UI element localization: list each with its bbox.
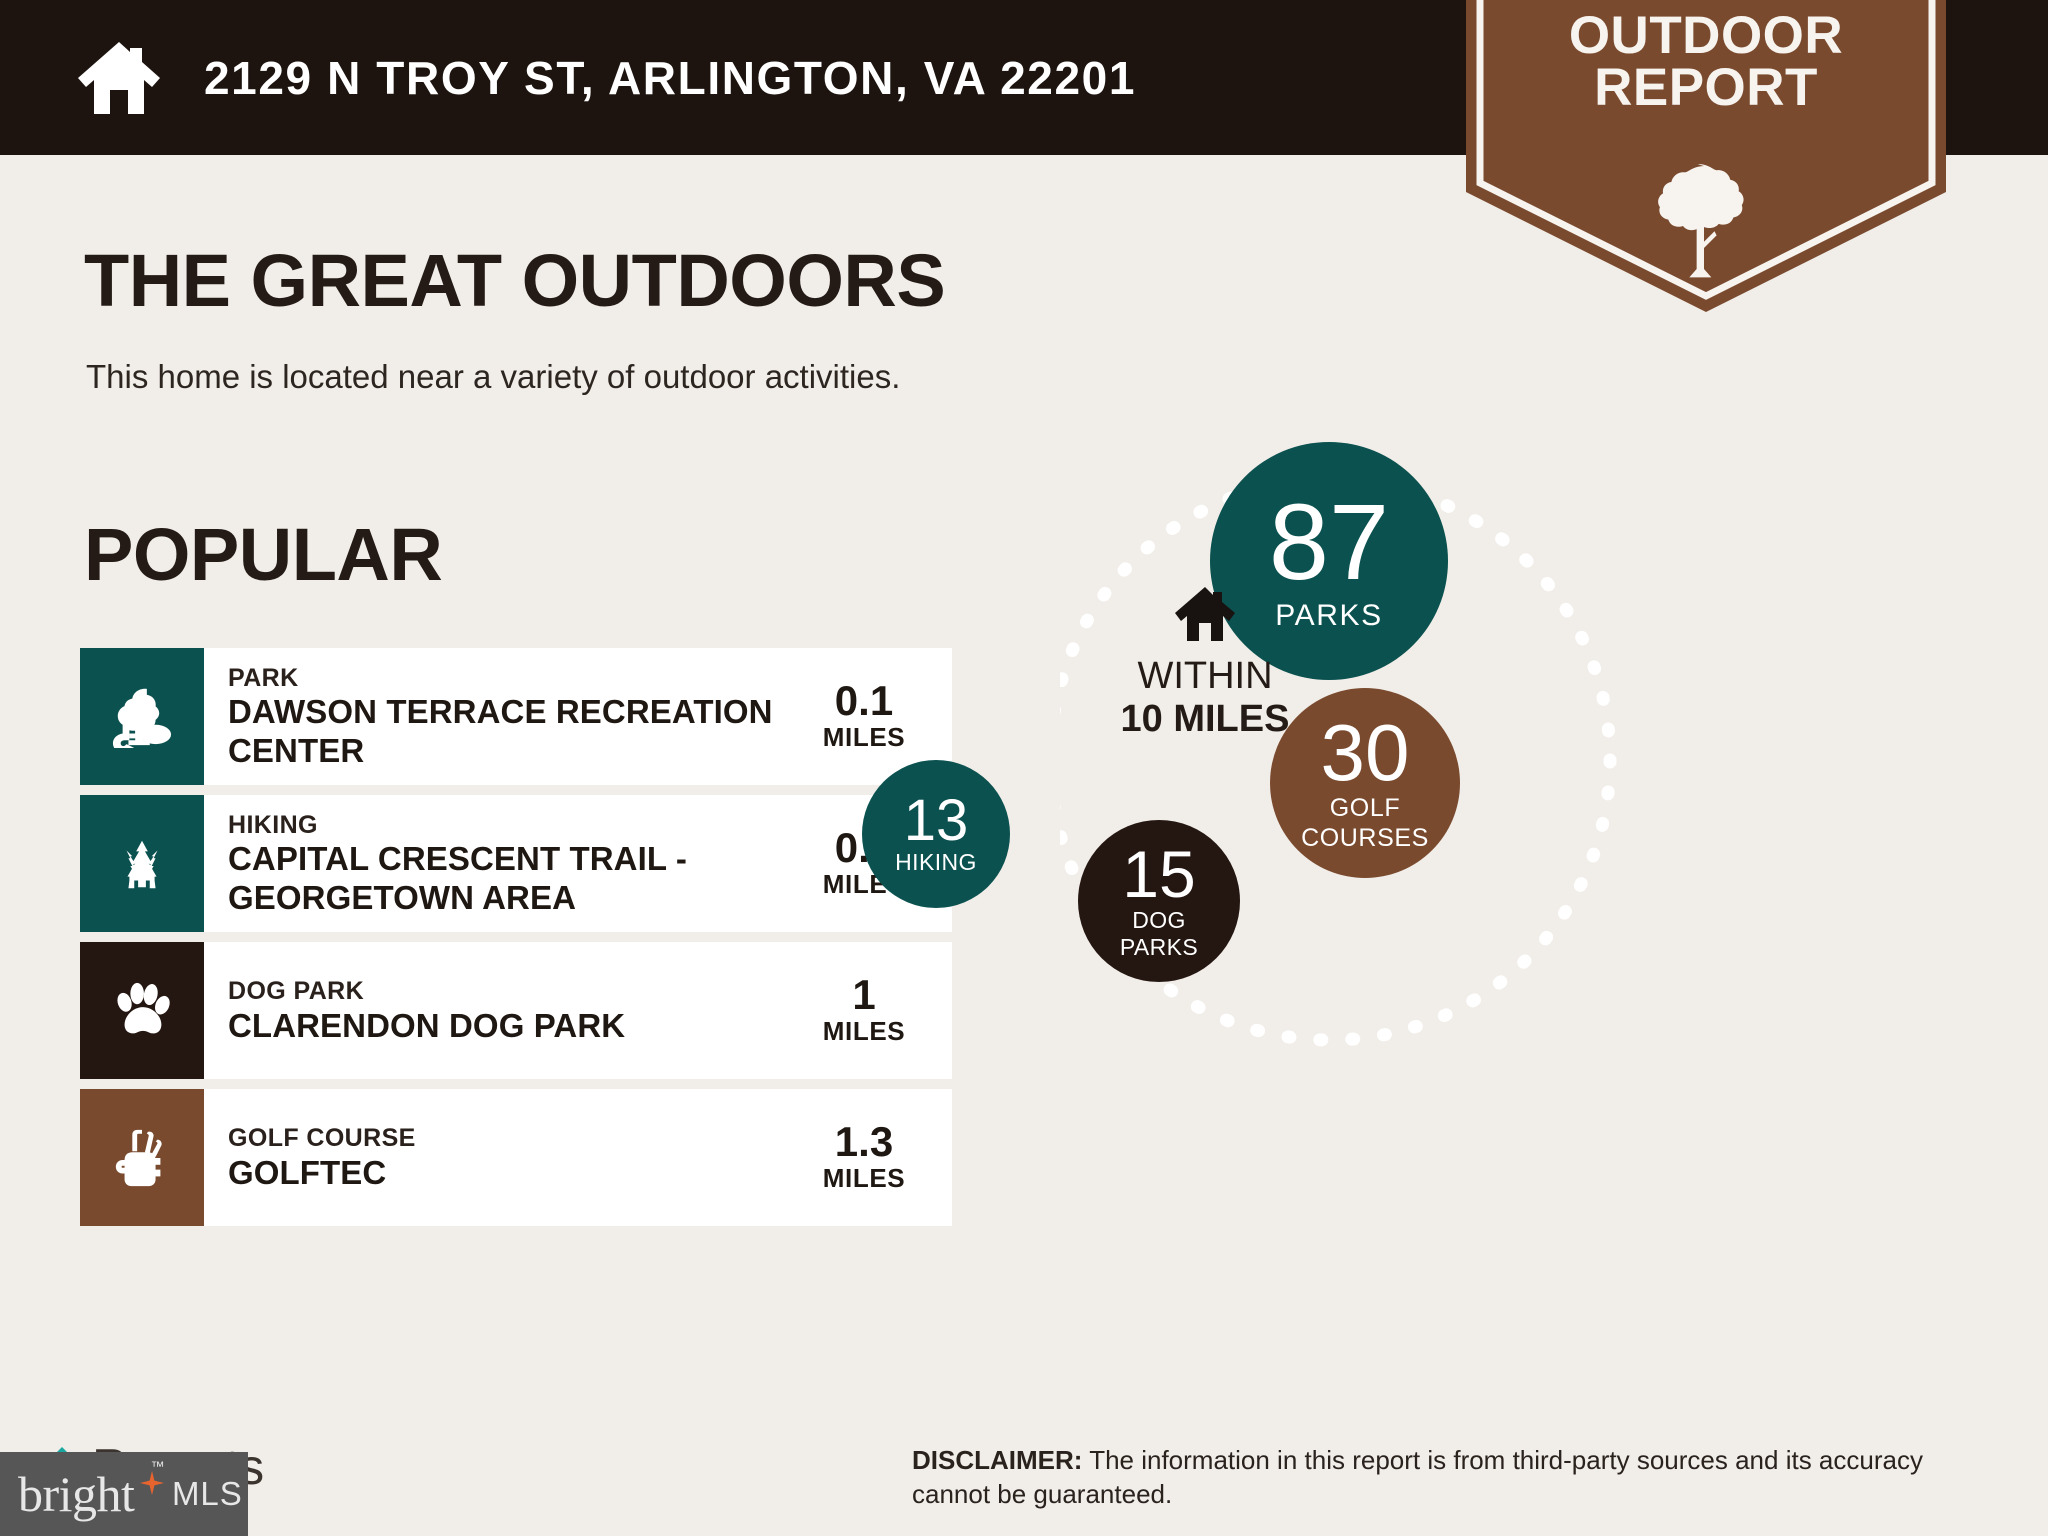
- mls-wordmark: MLS: [172, 1475, 243, 1513]
- disclaimer-label: DISCLAIMER:: [912, 1445, 1082, 1475]
- poi-distance-value: 0.1: [835, 680, 893, 723]
- outdoor-report-page: 2129 N TROY ST, ARLINGTON, VA 22201 OUTD…: [0, 0, 2048, 1536]
- pine-trees-icon: [80, 795, 204, 932]
- golf-bag-icon: [80, 1089, 204, 1226]
- bubble-hiking-value: 13: [904, 793, 969, 848]
- poi-text: PARK DAWSON TERRACE RECREATION CENTER: [204, 648, 792, 785]
- poi-category: PARK: [228, 663, 784, 694]
- poi-category: DOG PARK: [228, 976, 784, 1007]
- list-item[interactable]: GOLF COURSE GOLFTEC 1.3 MILES: [80, 1089, 952, 1226]
- bubble-dogparks-value: 15: [1122, 843, 1195, 906]
- chart-center-within: WITHIN: [1060, 655, 1350, 698]
- badge-line1: OUTDOOR: [1569, 6, 1843, 65]
- bubble-hiking-label: HIKING: [895, 850, 977, 874]
- poi-distance-unit: MILES: [823, 1016, 905, 1047]
- dotted-orbit-path: [1060, 420, 2000, 1100]
- poi-name: CAPITAL CRESCENT TRAIL - GEORGETOWN AREA: [228, 840, 784, 917]
- poi-distance-unit: MILES: [823, 722, 905, 753]
- poi-name: GOLFTEC: [228, 1154, 784, 1192]
- property-address: 2129 N TROY ST, ARLINGTON, VA 22201: [204, 51, 1136, 105]
- home-icon: [76, 40, 162, 116]
- chart-center-miles: 10 MILES: [1060, 698, 1350, 741]
- bubble-parks-value: 87: [1269, 491, 1389, 594]
- badge-line2: REPORT: [1466, 62, 1946, 114]
- list-item[interactable]: DOG PARK CLARENDON DOG PARK 1 MILES: [80, 942, 952, 1079]
- page-title: THE GREAT OUTDOORS: [84, 238, 945, 323]
- poi-distance: 1 MILES: [792, 942, 952, 1079]
- bubble-dogparks-label-line2: PARKS: [1120, 935, 1198, 959]
- popular-poi-list: PARK DAWSON TERRACE RECREATION CENTER 0.…: [80, 648, 952, 1236]
- badge-title: OUTDOOR REPORT: [1466, 10, 1946, 114]
- poi-category: GOLF COURSE: [228, 1123, 784, 1154]
- poi-distance-value: 1: [852, 974, 875, 1017]
- bubble-dog-parks[interactable]: 15 DOG PARKS: [1078, 820, 1240, 982]
- popular-heading: POPULAR: [84, 512, 442, 597]
- home-icon: [1173, 585, 1237, 643]
- park-trees-icon: [80, 648, 204, 785]
- list-item[interactable]: PARK DAWSON TERRACE RECREATION CENTER 0.…: [80, 648, 952, 785]
- bright-mls-logo: bright ™ MLS: [0, 1452, 248, 1536]
- outdoor-report-badge: OUTDOOR REPORT: [1466, 0, 1946, 316]
- poi-text: DOG PARK CLARENDON DOG PARK: [204, 942, 792, 1079]
- bright-wordmark: bright ™: [18, 1465, 160, 1523]
- poi-category: HIKING: [228, 810, 784, 841]
- paw-print-icon: [80, 942, 204, 1079]
- trademark-symbol: ™: [150, 1458, 164, 1474]
- bubble-dogparks-label-line1: DOG: [1132, 908, 1186, 932]
- disclaimer: DISCLAIMER: The information in this repo…: [912, 1443, 1982, 1512]
- poi-name: CLARENDON DOG PARK: [228, 1007, 784, 1045]
- poi-distance: 1.3 MILES: [792, 1089, 952, 1226]
- list-item[interactable]: HIKING CAPITAL CRESCENT TRAIL - GEORGETO…: [80, 795, 952, 932]
- bright-text: bright: [18, 1466, 134, 1522]
- page-subtitle: This home is located near a variety of o…: [86, 358, 900, 396]
- poi-name: DAWSON TERRACE RECREATION CENTER: [228, 693, 784, 770]
- poi-text: HIKING CAPITAL CRESCENT TRAIL - GEORGETO…: [204, 795, 792, 932]
- poi-distance-value: 1.3: [835, 1121, 893, 1164]
- within-10-miles-chart: 87 PARKS 30 GOLF COURSES 15 DOG PARKS 13…: [1060, 420, 2000, 1100]
- bubble-hiking[interactable]: 13 HIKING: [862, 760, 1010, 908]
- poi-distance-unit: MILES: [823, 1163, 905, 1194]
- poi-text: GOLF COURSE GOLFTEC: [204, 1089, 792, 1226]
- bubble-golf-label-line2: COURSES: [1301, 825, 1429, 851]
- bubble-golf-label-line1: GOLF: [1330, 795, 1400, 821]
- sparkle-icon: [140, 1471, 164, 1495]
- chart-center-label: WITHIN 10 MILES: [1060, 585, 1350, 740]
